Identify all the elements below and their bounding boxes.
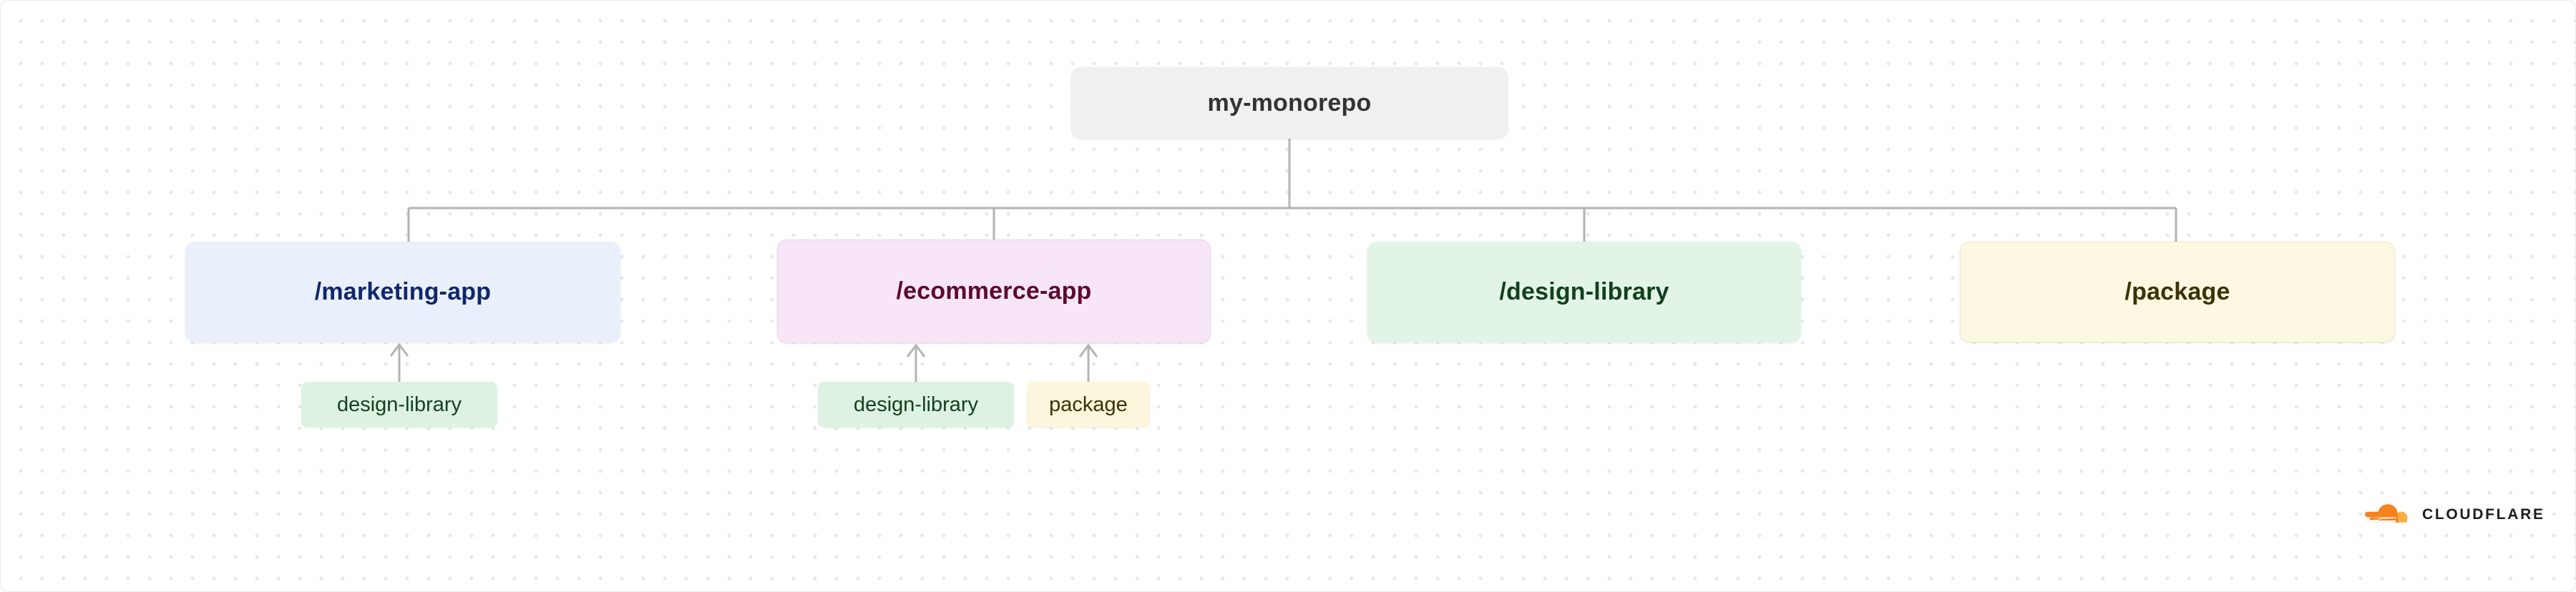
dependency-pill-marketing-design-library[interactable]: design-library [301,382,497,428]
dependency-pill-ecommerce-package[interactable]: package [1027,382,1150,428]
node-marketing-app[interactable]: /marketing-app [185,242,620,342]
node-my-monorepo[interactable]: my-monorepo [1071,67,1508,139]
arrow-head-ecommerce-designlibrary [907,345,924,357]
node-package[interactable]: /package [1960,242,2395,342]
cloudflare-logo: CLOUDFLARE [2362,494,2545,534]
cloudflare-cloud-icon [2362,500,2412,528]
node-label: /design-library [1499,278,1669,306]
node-label: my-monorepo [1208,89,1372,117]
cloudflare-wordmark: CLOUDFLARE [2422,507,2545,522]
diagram-canvas: my-monorepo /marketing-app /ecommerce-ap… [0,0,2576,592]
node-label: /marketing-app [315,278,492,306]
node-label: /ecommerce-app [896,277,1091,305]
node-label: /package [2124,278,2230,306]
arrow-head-marketing-designlibrary [391,345,408,356]
node-ecommerce-app[interactable]: /ecommerce-app [777,240,1211,343]
arrow-head-ecommerce-package [1080,345,1097,357]
dependency-pill-ecommerce-design-library[interactable]: design-library [818,382,1014,428]
node-design-library[interactable]: /design-library [1367,242,1801,342]
